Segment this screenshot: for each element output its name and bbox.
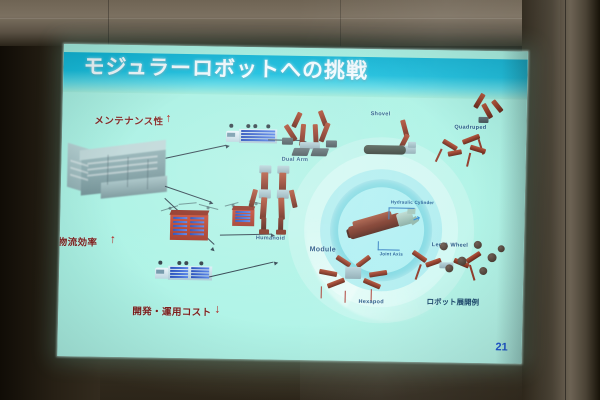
presentation-slide: モジュラーロボットへの挑戦 メンテナンス性 ↑ 物流効率 ↑ 開発・運用コスト … (57, 44, 528, 364)
photo-of-projected-slide: モジュラーロボットへの挑戦 メンテナンス性 ↑ 物流効率 ↑ 開発・運用コスト … (0, 0, 600, 400)
slide-vignette (57, 44, 528, 364)
projection-area: モジュラーロボットへの挑戦 メンテナンス性 ↑ 物流効率 ↑ 開発・運用コスト … (0, 0, 600, 400)
slide-right-falloff (495, 51, 528, 363)
